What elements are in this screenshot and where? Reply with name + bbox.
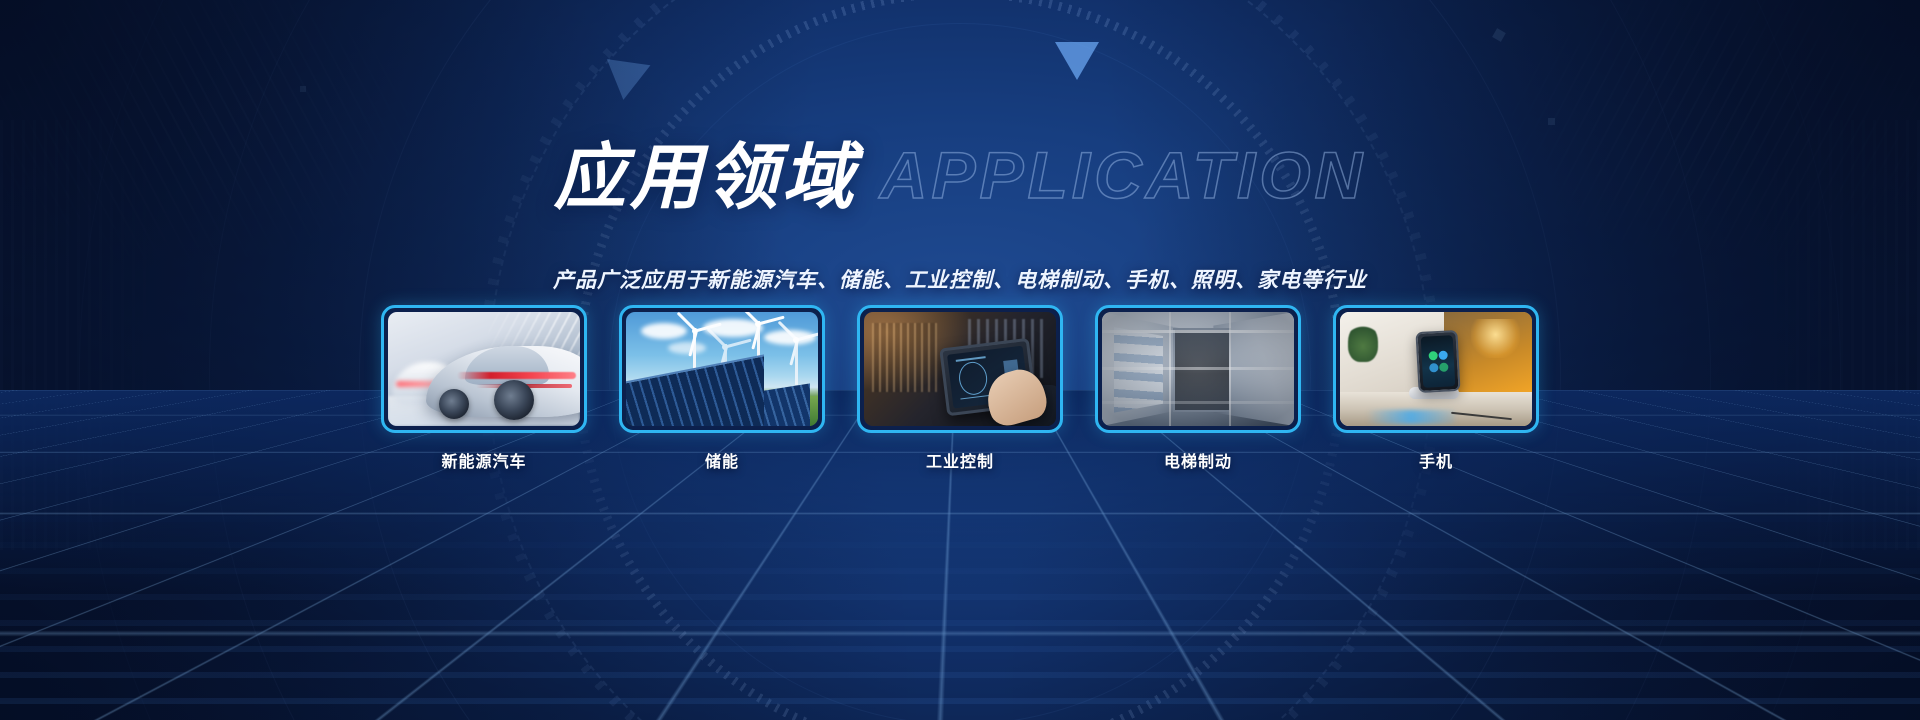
card-label: 手机 [1333,448,1539,472]
industrial-control-photo [864,312,1056,426]
application-section-banner: 应用领域APPLICATION 产品广泛应用于新能源汽车、储能、工业控制、电梯制… [0,0,1920,720]
new-energy-vehicle-photo [388,312,580,426]
card-frame[interactable] [381,305,587,433]
elevator-braking-photo [1102,312,1294,426]
triangle-marker-secondary-icon [602,59,651,103]
application-card-industrial-control[interactable]: 工业控制 [857,305,1063,472]
card-frame[interactable] [1095,305,1301,433]
application-card-new-energy-vehicle[interactable]: 新能源汽车 [381,305,587,472]
page-title-english: APPLICATION [880,137,1366,213]
triangle-marker-icon [1055,42,1099,80]
card-label: 工业控制 [857,448,1063,472]
card-label: 储能 [619,448,825,472]
card-label: 电梯制动 [1095,448,1301,472]
page-title: 应用领域 [554,118,858,223]
decor-square-1 [1492,28,1506,42]
application-card-elevator-braking[interactable]: 电梯制动 [1095,305,1301,472]
card-label: 新能源汽车 [381,448,587,472]
card-frame[interactable] [619,305,825,433]
application-card-list: 新能源汽车 [0,305,1920,472]
card-frame[interactable] [1333,305,1539,433]
application-card-mobile-phone[interactable]: 手机 [1333,305,1539,472]
energy-storage-photo [626,312,818,426]
application-card-energy-storage[interactable]: 储能 [619,305,825,472]
section-heading: 应用领域APPLICATION [0,118,1920,223]
mobile-phone-photo [1340,312,1532,426]
decor-square-3 [300,86,306,92]
section-subtitle: 产品广泛应用于新能源汽车、储能、工业控制、电梯制动、手机、照明、家电等行业 [0,264,1920,294]
card-frame[interactable] [857,305,1063,433]
